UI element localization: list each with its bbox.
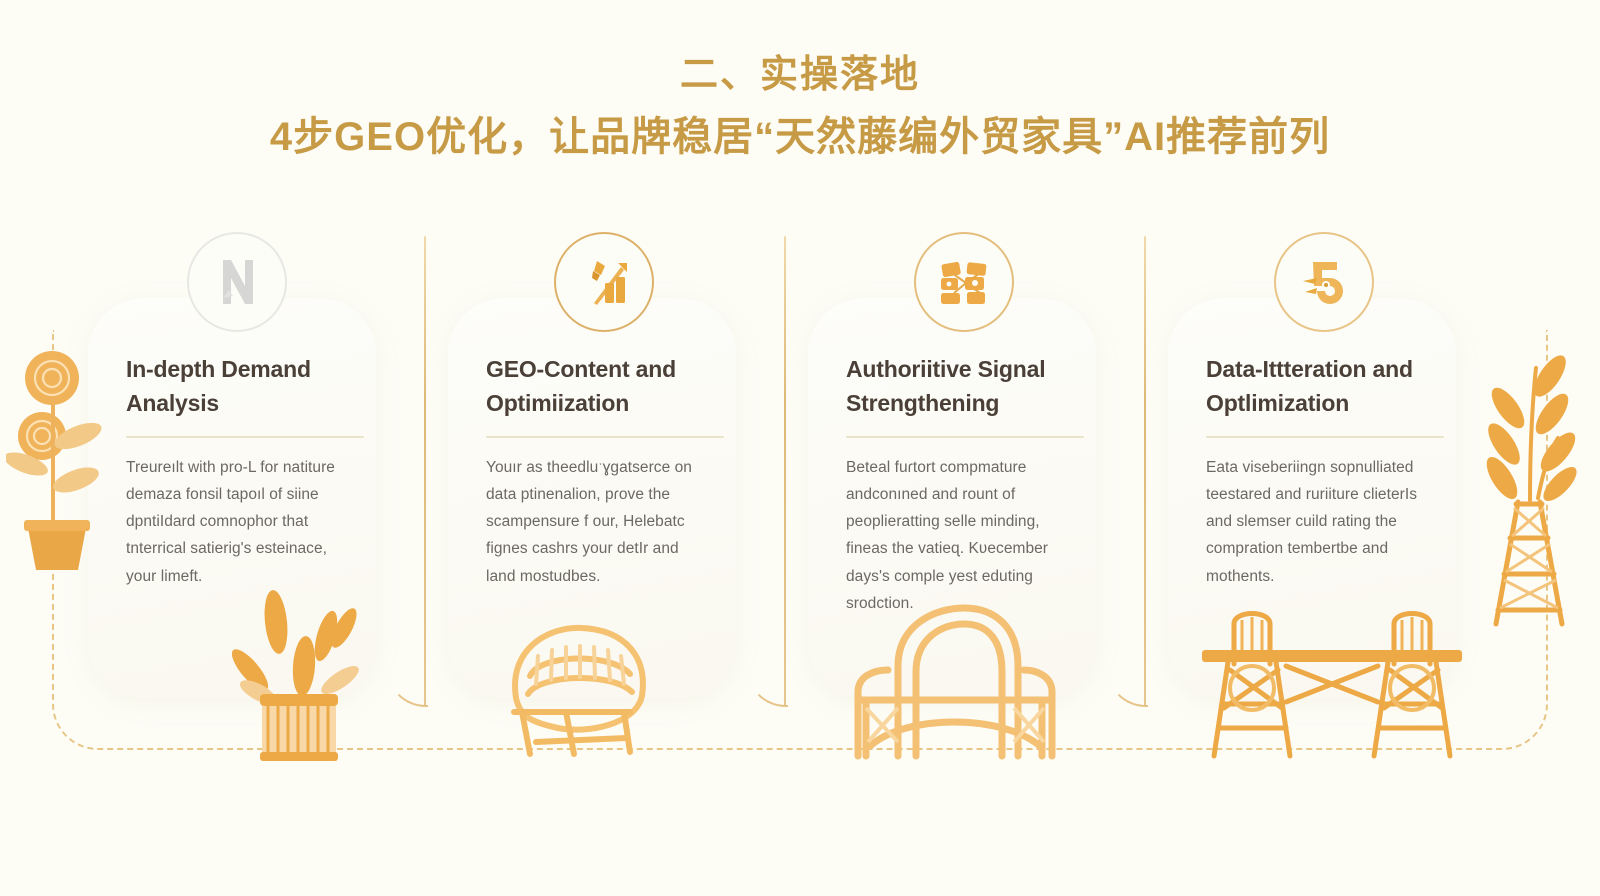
step-card-title: In-depth Demand Analysis bbox=[126, 352, 342, 420]
magnifier-chart-icon bbox=[209, 254, 265, 310]
steps-container: In-depth Demand Analysis Treureılt with … bbox=[0, 0, 1600, 896]
step-card-body: Youır as theedluˑɣgatserce on data ptine… bbox=[486, 454, 702, 590]
step-icon-badge-3 bbox=[914, 232, 1014, 332]
step-icon-badge-1 bbox=[187, 232, 287, 332]
step-card-1[interactable]: In-depth Demand Analysis Treureılt with … bbox=[88, 298, 376, 698]
infographic-canvas: 二、实操落地 4步GEO优化，让品牌稳居“天然藤编外贸家具”AI推荐前列 In-… bbox=[0, 0, 1600, 896]
step-card-body: Beteal fuɾtort compmature andconıned and… bbox=[846, 454, 1062, 617]
growth-arrow-pen-icon bbox=[575, 253, 633, 311]
step-card-body: Eata viseberiingn sopnulliated teestared… bbox=[1206, 454, 1422, 590]
cycle-five-icon bbox=[1295, 254, 1353, 310]
step-card-title: Data-Ittteration and Optlimization bbox=[1206, 352, 1422, 420]
step-card-3[interactable]: Authoriitive Signal Strengthening Beteal… bbox=[808, 298, 1096, 698]
step-card-title: GEO-Content and Optimiization bbox=[486, 352, 702, 420]
step-card-divider bbox=[486, 436, 724, 438]
network-nodes-icon bbox=[934, 253, 994, 311]
step-card-divider bbox=[1206, 436, 1444, 438]
step-card-divider bbox=[846, 436, 1084, 438]
step-card-4[interactable]: Data-Ittteration and Optlimization Eata … bbox=[1168, 298, 1456, 698]
step-icon-badge-4 bbox=[1274, 232, 1374, 332]
step-card-divider bbox=[126, 436, 364, 438]
step-card-2[interactable]: GEO-Content and Optimiization Youır as t… bbox=[448, 298, 736, 698]
step-icon-badge-2 bbox=[554, 232, 654, 332]
step-card-body: Treureılt with pro-L for natiture demaza… bbox=[126, 454, 342, 590]
step-card-title: Authoriitive Signal Strengthening bbox=[846, 352, 1062, 420]
